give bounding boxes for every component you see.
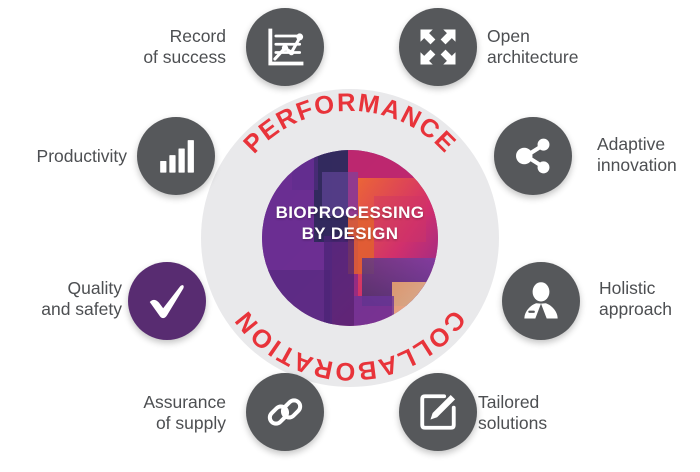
label-line-1: Holistic — [599, 278, 700, 299]
node-holistic-approach[interactable] — [502, 262, 580, 340]
edit-pencil-square-icon — [417, 391, 459, 433]
label-line-2: approach — [599, 299, 700, 320]
label-open-architecture: Open architecture — [487, 26, 677, 67]
node-productivity[interactable] — [137, 117, 215, 195]
arc-performance: PERFORMANCE — [238, 89, 461, 159]
label-line-1: Quality — [0, 278, 122, 299]
label-line-2: architecture — [487, 47, 677, 68]
chain-link-icon — [264, 391, 306, 433]
checkmark-icon — [144, 278, 190, 324]
bar-chart-icon — [156, 136, 196, 176]
label-line-1: Record — [86, 26, 226, 47]
label-holistic-approach: Holistic approach — [599, 278, 700, 319]
label-line-1: Adaptive — [597, 134, 700, 155]
label-line-1: Productivity — [0, 146, 127, 167]
diagram-canvas: PERFORMANCE COLLABORATION — [0, 0, 700, 472]
arc-performance-text: PERFORMANCE — [238, 89, 461, 159]
label-tailored-solutions: Tailored solutions — [478, 392, 658, 433]
label-record-of-success: Record of success — [86, 26, 226, 67]
node-assurance-of-supply[interactable] — [246, 373, 324, 451]
label-line-2: of success — [86, 47, 226, 68]
label-line-1: Assurance — [78, 392, 226, 413]
person-badge-icon — [520, 280, 562, 322]
arrows-inward-icon — [417, 26, 459, 68]
node-quality-and-safety[interactable] — [128, 262, 206, 340]
line-chart-growth-icon — [263, 25, 307, 69]
label-quality-and-safety: Quality and safety — [0, 278, 122, 319]
node-tailored-solutions[interactable] — [399, 373, 477, 451]
label-line-2: of supply — [78, 413, 226, 434]
share-network-icon — [512, 135, 554, 177]
node-record-of-success[interactable] — [246, 8, 324, 86]
hub-abstract-artwork — [262, 150, 438, 326]
node-adaptive-innovation[interactable] — [494, 117, 572, 195]
label-line-1: Open — [487, 26, 677, 47]
label-productivity: Productivity — [0, 146, 127, 167]
label-assurance-of-supply: Assurance of supply — [78, 392, 226, 433]
label-adaptive-innovation: Adaptive innovation — [597, 134, 700, 175]
node-open-architecture[interactable] — [399, 8, 477, 86]
label-line-2: solutions — [478, 413, 658, 434]
label-line-1: Tailored — [478, 392, 658, 413]
label-line-2: and safety — [0, 299, 122, 320]
hub-circle: BIOPROCESSING BY DESIGN — [262, 150, 438, 326]
label-line-2: innovation — [597, 155, 700, 176]
